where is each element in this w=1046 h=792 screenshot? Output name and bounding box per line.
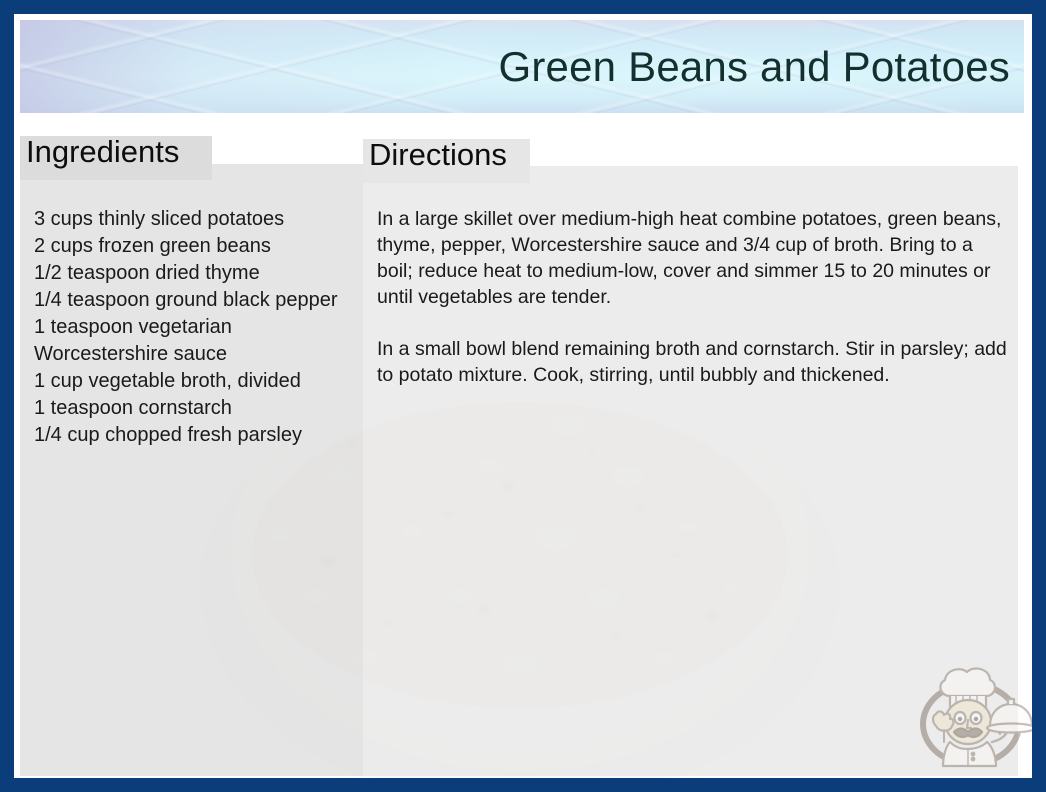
list-item: 1 teaspoon vegetarian Worcestershire sau…: [34, 314, 354, 368]
ingredients-list: 3 cups thinly sliced potatoes 2 cups fro…: [34, 206, 354, 449]
list-item: 1 teaspoon cornstarch: [34, 395, 354, 422]
ingredients-heading: Ingredients: [26, 136, 179, 167]
directions-heading: Directions: [369, 139, 507, 170]
slide-page: Green Beans and Potatoes Ingredients 3 c…: [14, 14, 1032, 778]
directions-body: In a large skillet over medium-high heat…: [377, 206, 1013, 388]
recipe-slide: Green Beans and Potatoes Ingredients 3 c…: [0, 0, 1046, 792]
list-item: 3 cups thinly sliced potatoes: [34, 206, 354, 233]
list-item: 1/4 cup chopped fresh parsley: [34, 422, 354, 449]
directions-paragraph: In a small bowl blend remaining broth an…: [377, 336, 1013, 388]
title-banner: Green Beans and Potatoes: [20, 20, 1024, 113]
list-item: 1 cup vegetable broth, divided: [34, 368, 354, 395]
directions-paragraph: In a large skillet over medium-high heat…: [377, 206, 1013, 310]
list-item: 2 cups frozen green beans: [34, 233, 354, 260]
chef-with-cloche-logo: [910, 650, 1032, 778]
list-item: 1/4 teaspoon ground black pepper: [34, 287, 354, 314]
page-title: Green Beans and Potatoes: [499, 44, 1011, 88]
list-item: 1/2 teaspoon dried thyme: [34, 260, 354, 287]
